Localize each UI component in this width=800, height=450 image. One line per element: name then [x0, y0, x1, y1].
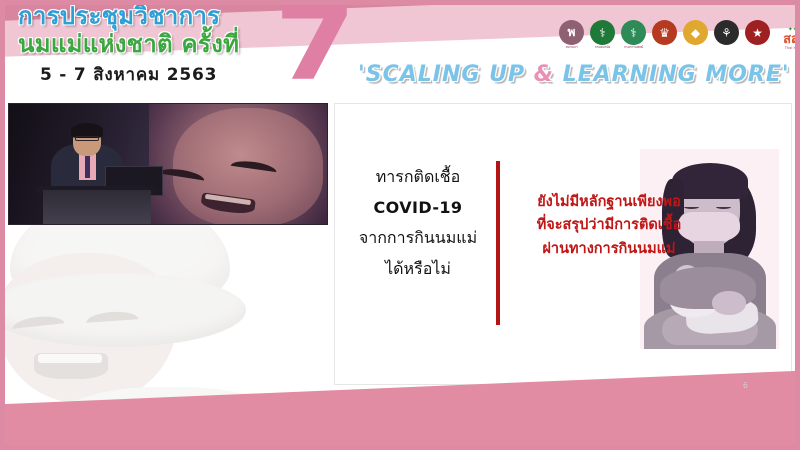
- conference-title-line1: การประชุมวิชาการ: [18, 4, 239, 30]
- question-line-3: จากการกินนมแม่: [343, 223, 493, 254]
- garuda-emblem-icon: ◆: [683, 20, 708, 45]
- question-line-2: COVID-19: [343, 193, 493, 224]
- royal-crest-icon: ♛: [652, 20, 677, 45]
- tagline-ampersand: &: [534, 62, 554, 87]
- sss-subtext: Thai Health: [785, 46, 800, 50]
- speaker-necktie: [85, 156, 90, 178]
- page-number: 6: [743, 381, 748, 390]
- mother-hand: [712, 291, 746, 315]
- vertical-divider-bar: [496, 161, 500, 325]
- slide-content-panel: ทารกติดเชื้อ COVID-19 จากการกินนมแม่ ได้…: [334, 103, 792, 385]
- medical-council-logo: ★: [744, 20, 771, 50]
- department-health-logo: ⚕ กรมการแพทย์: [620, 20, 647, 50]
- conference-title-block: การประชุมวิชาการ นมแม่แห่งชาติ ครั้งที่ …: [18, 4, 239, 88]
- ministry-public-health-icon: ⚕: [590, 20, 615, 45]
- royal-crest-logo: ♛: [651, 20, 678, 50]
- watermark-teeth: [38, 354, 102, 363]
- answer-line-3: ผ่านทางการกินนมแม่: [505, 238, 713, 261]
- conference-speaker-video[interactable]: [8, 103, 328, 225]
- sss-wordmark: สสส: [783, 33, 800, 46]
- answer-text: ยังไม่มีหลักฐานเพียงพอ ที่จะสรุปว่ามีการ…: [505, 191, 713, 261]
- speaker-eyeglasses: [75, 136, 99, 141]
- presentation-slide: 7 การประชุมวิชาการ นมแม่แห่งชาติ ครั้งที…: [0, 0, 800, 450]
- medical-council-icon: ★: [745, 20, 770, 45]
- conference-date: 5 - 7 สิงหาคม 2563: [18, 61, 239, 88]
- logo-caption: กรมการแพทย์: [620, 46, 647, 50]
- logo-caption: สมาคมฯ: [558, 46, 585, 50]
- watermark-hat-brim: [0, 273, 246, 347]
- nursing-council-icon: ⚘: [714, 20, 739, 45]
- mother-eye-right: [716, 205, 731, 209]
- department-health-icon: ⚕: [621, 20, 646, 45]
- nursing-council-logo: ⚘: [713, 20, 740, 50]
- thaihealth-sss-logo: ✦✦✦ สสส Thai Health: [775, 20, 800, 50]
- question-line-1: ทารกติดเชื้อ: [343, 162, 493, 193]
- question-line-4: ได้หรือไม่: [343, 254, 493, 285]
- speaker-podium: [43, 190, 151, 225]
- edition-number: 7: [274, 0, 351, 96]
- background-child-photo-watermark: [0, 195, 320, 420]
- garuda-emblem-logo: ◆: [682, 20, 709, 50]
- ministry-public-health-logo: ⚕ กรมอนามัย: [589, 20, 616, 50]
- logo-caption: กรมอนามัย: [589, 46, 616, 50]
- thai-royal-emblem-logo: พ สมาคมฯ: [558, 20, 585, 50]
- conference-banner: 7 การประชุมวิชาการ นมแม่แห่งชาติ ครั้งที…: [0, 0, 800, 100]
- answer-line-2: ที่จะสรุปว่ามีการติดเชื้อ: [505, 214, 713, 237]
- question-text: ทารกติดเชื้อ COVID-19 จากการกินนมแม่ ได้…: [343, 162, 493, 285]
- tagline-prefix: 'SCALING UP: [358, 62, 534, 87]
- thai-royal-emblem-icon: พ: [559, 20, 584, 45]
- sponsor-logos: พ สมาคมฯ ⚕ กรมอนามัย ⚕ กรมการแพทย์ ♛ ◆ ⚘…: [558, 20, 800, 50]
- conference-title-line2: นมแม่แห่งชาติ ครั้งที่: [18, 31, 239, 58]
- answer-line-1: ยังไม่มีหลักฐานเพียงพอ: [505, 191, 713, 214]
- tagline-suffix: LEARNING MORE': [554, 62, 790, 87]
- conference-tagline: 'SCALING UP & LEARNING MORE': [358, 62, 790, 87]
